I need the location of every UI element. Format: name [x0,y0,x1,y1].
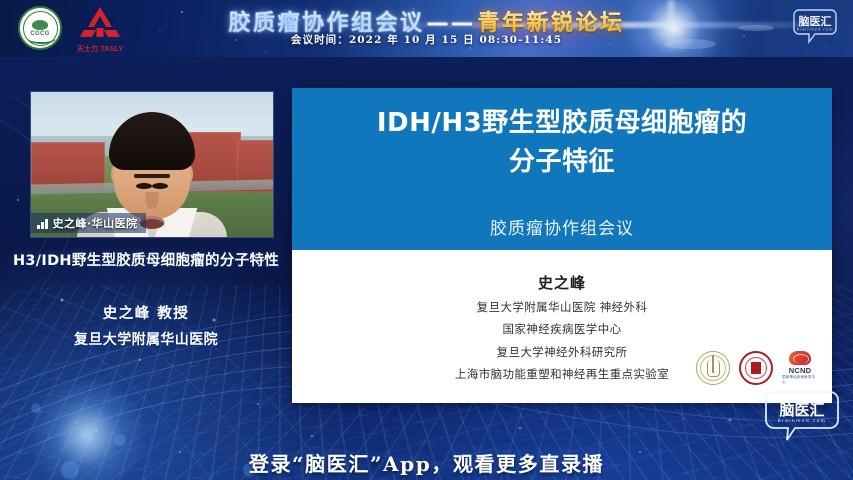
fudan-university-seal-icon [739,351,773,385]
huashan-hospital-seal-icon [696,351,730,385]
slide-title-line-2: 分子特征 [292,143,832,182]
slide-institution-logos: NCND 国家神经疾病医学中心 [696,351,818,385]
signal-bars-icon [37,218,48,229]
talk-title-caption: H3/IDH野生型胶质母细胞瘤的分子特性 [8,252,284,272]
speaker-org-caption: 复旦大学附属华山医院 [8,329,284,349]
participant-hair [109,112,195,170]
participant-nose [146,192,159,209]
slide-body: 史之峰 复旦大学附属华山医院 神经外科 国家神经疾病医学中心 复旦大学神经外科研… [292,250,832,403]
brainmed-logo-header-sub: Brainmed.com [797,28,834,32]
speaker-name-caption: 史之峰 教授 [8,302,284,323]
participant-name-badge: 史之峰·华山医院 [31,213,146,233]
caduceus-icon [707,360,720,377]
participant-name-label: 史之峰·华山医院 [53,215,138,231]
slide-title: IDH/H3野生型胶质母细胞瘤的 分子特征 [292,104,832,182]
broadcast-stage: CGCG 天士力 TASLY 胶质瘤协作组会议——青年新锐论坛 会议时间：202… [0,0,853,480]
slide-title-line-1: IDH/H3野生型胶质母细胞瘤的 [292,104,832,143]
brainmed-logo-footer-text: 脑医汇 [779,401,824,419]
event-datetime: 会议时间：2022 年 10 月 15 日 08:30-11:45 [0,32,853,47]
participant-eye-right [136,183,152,189]
slide-subtitle: 胶质瘤协作组会议 [292,214,832,239]
participant-brow-right [134,174,154,178]
fudan-seal-mark [749,360,763,376]
ncnd-logo-label: NCND [789,366,811,375]
participant-video-tile[interactable]: 史之峰·华山医院 [31,92,273,237]
slide-affiliation-item: 复旦大学附属华山医院 神经外科 [292,296,832,318]
participant-eye-left [152,183,168,189]
footer-promo-caption: 登录“脑医汇”App，观看更多直录播 [0,448,853,477]
brainmed-logo-header: 脑医汇 Brainmed.com [793,6,837,46]
presentation-slide[interactable]: IDH/H3野生型胶质母细胞瘤的 分子特征 胶质瘤协作组会议 史之峰 复旦大学附… [292,88,832,403]
slide-affiliation-item: 国家神经疾病医学中心 [292,318,832,340]
event-header-banner: CGCG 天士力 TASLY 胶质瘤协作组会议——青年新锐论坛 会议时间：202… [0,0,853,57]
brainmed-logo-footer: 脑医汇 Brainmed.com [765,388,839,444]
ncnd-logo-sublabel: 国家神经疾病医学中心 [782,375,818,385]
slide-presenter-name: 史之峰 [292,272,832,293]
brainmed-logo-footer-sub: Brainmed.com [778,418,827,424]
left-caption-block: H3/IDH野生型胶质母细胞瘤的分子特性 史之峰 教授 复旦大学附属华山医院 [8,252,284,349]
brainmed-logo-header-text: 脑医汇 [799,14,832,28]
ncnd-brain-icon [789,351,811,365]
ncnd-logo-icon: NCND 国家神经疾病医学中心 [782,351,818,385]
